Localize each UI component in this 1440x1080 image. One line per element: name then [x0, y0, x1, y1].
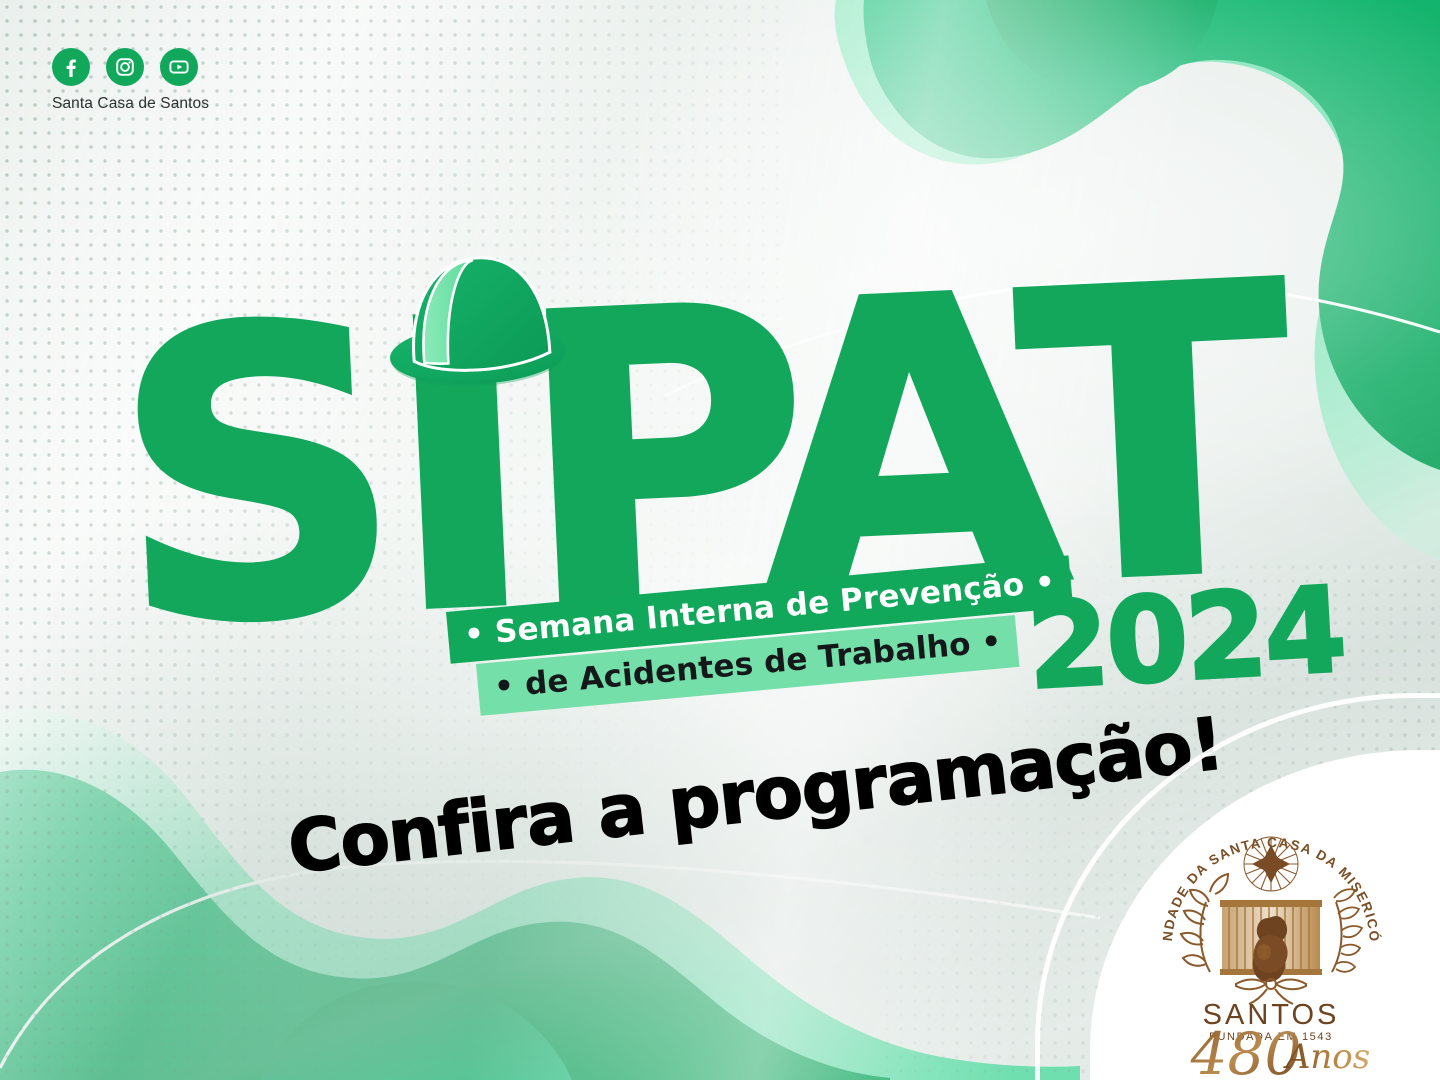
santa-casa-crest-logo: IRMANDADE DA SANTA CASA DA MISERICÓRDIA — [1136, 806, 1406, 1076]
social-block: Santa Casa de Santos — [52, 48, 209, 113]
safety-helmet-icon — [372, 233, 580, 403]
youtube-icon[interactable] — [160, 48, 198, 86]
tagline-text: Confira a programação! — [284, 701, 1227, 889]
crest-anniversary-number: 480 — [1190, 1020, 1302, 1076]
crest-anniversary-word: Anos — [1283, 1037, 1370, 1076]
poster-canvas: Santa Casa de Santos SIPAT — [0, 0, 1440, 1080]
year-label: 2024 — [1024, 570, 1347, 705]
social-handle-label: Santa Casa de Santos — [52, 95, 209, 113]
crest-pieta-figure — [1253, 916, 1288, 982]
crest-star-emblem — [1244, 837, 1298, 891]
instagram-icon[interactable] — [106, 48, 144, 86]
social-icon-row — [52, 48, 209, 86]
facebook-icon[interactable] — [52, 48, 90, 86]
